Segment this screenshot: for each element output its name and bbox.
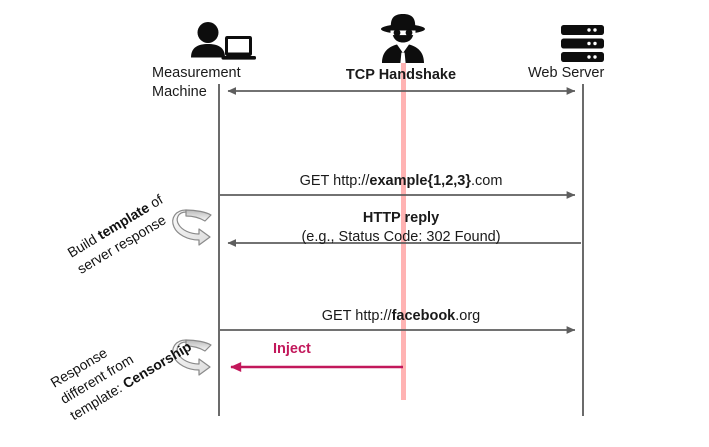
message-label-http-reply-main: HTTP reply [281, 209, 521, 228]
message-label-get-example-prefix: GET http:// [300, 173, 370, 189]
message-label-http-reply-sub: (e.g., Status Code: 302 Found) [261, 228, 541, 247]
message-label-get-facebook-prefix: GET http:// [322, 308, 392, 324]
message-label-http-reply-main-text: HTTP reply [363, 210, 439, 226]
message-label-get-example: GET http://example{1,2,3}.com [281, 172, 521, 191]
message-label-get-example-domain: example{1,2,3} [369, 173, 471, 189]
message-label-inject: Inject [273, 341, 311, 357]
message-label-get-facebook: GET http://facebook.org [281, 307, 521, 326]
message-label-http-reply-sub-text: (e.g., Status Code: 302 Found) [301, 229, 500, 245]
message-label-get-facebook-suffix: .org [455, 308, 480, 324]
message-label-get-facebook-domain: facebook [392, 308, 456, 324]
actor-label-web-server-line1: Web Server [528, 64, 604, 83]
actor-label-measurement-machine-line2: Machine [152, 83, 241, 102]
sequence-diagram-canvas: Measurement Machine Web Server TCP Hands… [0, 0, 709, 447]
annotation-build-template: Build template of server response [64, 190, 176, 278]
lifeline-measurement-machine [218, 84, 220, 416]
actor-label-measurement-machine-line1: Measurement [152, 64, 241, 83]
message-label-inject-text: Inject [273, 341, 311, 357]
loop-arrow-icon-build-template [173, 210, 211, 245]
annotation-censorship: Response different from template: Censor… [47, 305, 195, 425]
message-label-get-example-suffix: .com [471, 173, 502, 189]
lifeline-web-server [582, 84, 584, 416]
message-label-tcp-handshake-text: TCP Handshake [346, 67, 456, 83]
message-label-tcp-handshake: TCP Handshake [281, 66, 521, 85]
server-rack-icon [561, 25, 604, 62]
actor-label-measurement-machine: Measurement Machine [152, 64, 241, 102]
person-with-laptop-icon [191, 22, 256, 60]
actor-label-web-server: Web Server [528, 64, 604, 83]
